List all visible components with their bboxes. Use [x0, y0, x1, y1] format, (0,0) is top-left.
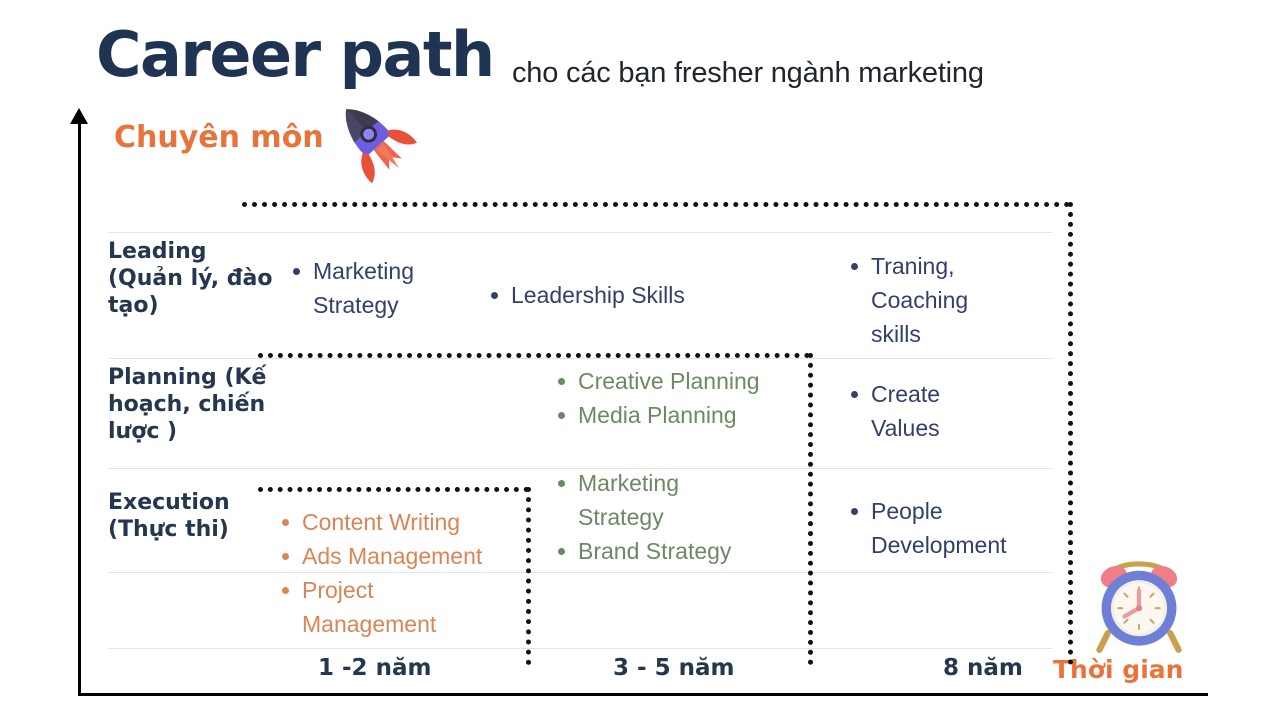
path-segment-top-horizontal [242, 202, 1070, 207]
path-segment-right-vertical [1068, 202, 1073, 665]
x-axis-line [78, 693, 1208, 696]
x-tick-3-5-years: 3 - 5 năm [613, 655, 734, 681]
list-item: Media Planning [552, 398, 822, 432]
y-axis-label: Chuyên môn [114, 120, 324, 155]
path-segment-bottom-horizontal [258, 487, 529, 492]
alarm-clock-icon [1087, 552, 1191, 656]
cell-execution-col3: People Development [845, 494, 1075, 562]
cell-leading-col2: Leadership Skills [485, 278, 775, 312]
x-tick-1-2-years: 1 -2 năm [318, 655, 431, 681]
cell-leading-col3: Traning, Coaching skills [845, 249, 1065, 351]
path-segment-middle-horizontal [258, 353, 810, 358]
cell-planning-col2: Creative Planning Media Planning [552, 364, 822, 432]
page-title: Career path [96, 24, 494, 86]
row-divider [108, 648, 1053, 649]
infographic-canvas: Career path cho các bạn fresher ngành ma… [0, 0, 1280, 720]
list-item: Leadership Skills [485, 278, 775, 312]
rocket-icon [313, 79, 432, 198]
row-divider [108, 358, 1053, 359]
cell-execution-col2: Marketing Strategy Brand Strategy [552, 466, 802, 568]
list-item: Creative Planning [552, 364, 822, 398]
page-subtitle: cho các bạn fresher ngành marketing [512, 56, 984, 90]
list-item: Marketing Strategy [552, 466, 802, 534]
list-item: People Development [845, 494, 1075, 562]
row-divider [108, 572, 1053, 573]
row-label-planning: Planning (Kế hoạch, chiến lược ) [108, 364, 278, 445]
list-item: Create Values [845, 377, 1065, 445]
path-segment-bottom-vertical [526, 487, 531, 665]
list-item: Content Writing [276, 505, 526, 539]
cell-leading-col1: Marketing Strategy [287, 254, 477, 322]
list-item: Ads Management [276, 539, 526, 573]
x-tick-8-years: 8 năm [943, 655, 1023, 681]
list-item: Brand Strategy [552, 534, 802, 568]
list-item: Traning, Coaching skills [845, 249, 1065, 351]
row-divider [108, 232, 1053, 233]
cell-planning-col3: Create Values [845, 377, 1065, 445]
row-label-leading: Leading (Quản lý, đào tạo) [108, 238, 278, 319]
y-axis-line [78, 118, 81, 696]
list-item: Marketing Strategy [287, 254, 477, 322]
cell-execution-col1: Content Writing Ads Management Project M… [276, 505, 526, 641]
list-item: Project Management [276, 573, 526, 641]
row-label-execution: Execution (Thực thi) [108, 489, 278, 543]
